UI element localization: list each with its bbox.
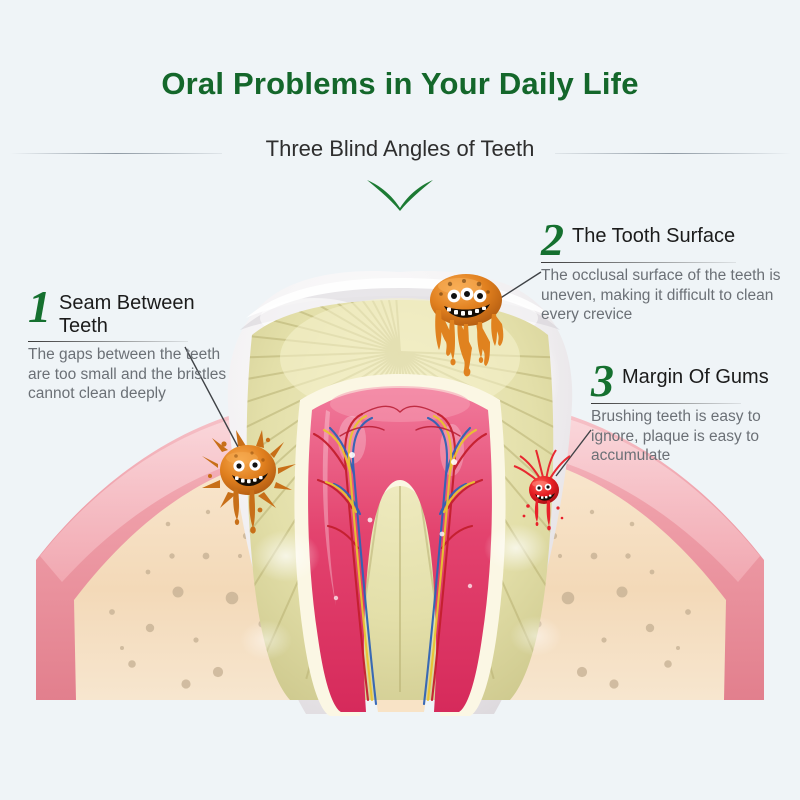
callout-1-title: Seam Between Teeth bbox=[59, 288, 243, 338]
callout-2-title: The Tooth Surface bbox=[572, 221, 735, 248]
callout-1-body: The gaps between the teeth are too small… bbox=[28, 342, 243, 404]
callout-2-body: The occlusal surface of the teeth is une… bbox=[541, 263, 791, 325]
callout-3-number: 3 bbox=[591, 362, 614, 400]
callout-3-body: Brushing teeth is easy to ignore, plaque… bbox=[591, 404, 796, 466]
callout-1-number: 1 bbox=[28, 288, 51, 326]
page-subtitle: Three Blind Angles of Teeth bbox=[0, 136, 800, 162]
callout-3-title: Margin Of Gums bbox=[622, 362, 769, 389]
callout-1-heading: 1 Seam Between Teeth bbox=[28, 288, 243, 338]
callout-2-heading: 2 The Tooth Surface bbox=[541, 221, 791, 259]
page-title: Oral Problems in Your Daily Life bbox=[0, 66, 800, 102]
infographic-canvas: Oral Problems in Your Daily Life Three B… bbox=[0, 0, 800, 800]
callout-seam-between-teeth: 1 Seam Between Teeth The gaps between th… bbox=[28, 288, 243, 404]
callout-tooth-surface: 2 The Tooth Surface The occlusal surface… bbox=[541, 221, 791, 325]
callout-3-heading: 3 Margin Of Gums bbox=[591, 362, 796, 400]
callout-2-number: 2 bbox=[541, 221, 564, 259]
chevron-down-icon bbox=[365, 178, 435, 217]
callout-margin-of-gums: 3 Margin Of Gums Brushing teeth is easy … bbox=[591, 362, 796, 466]
